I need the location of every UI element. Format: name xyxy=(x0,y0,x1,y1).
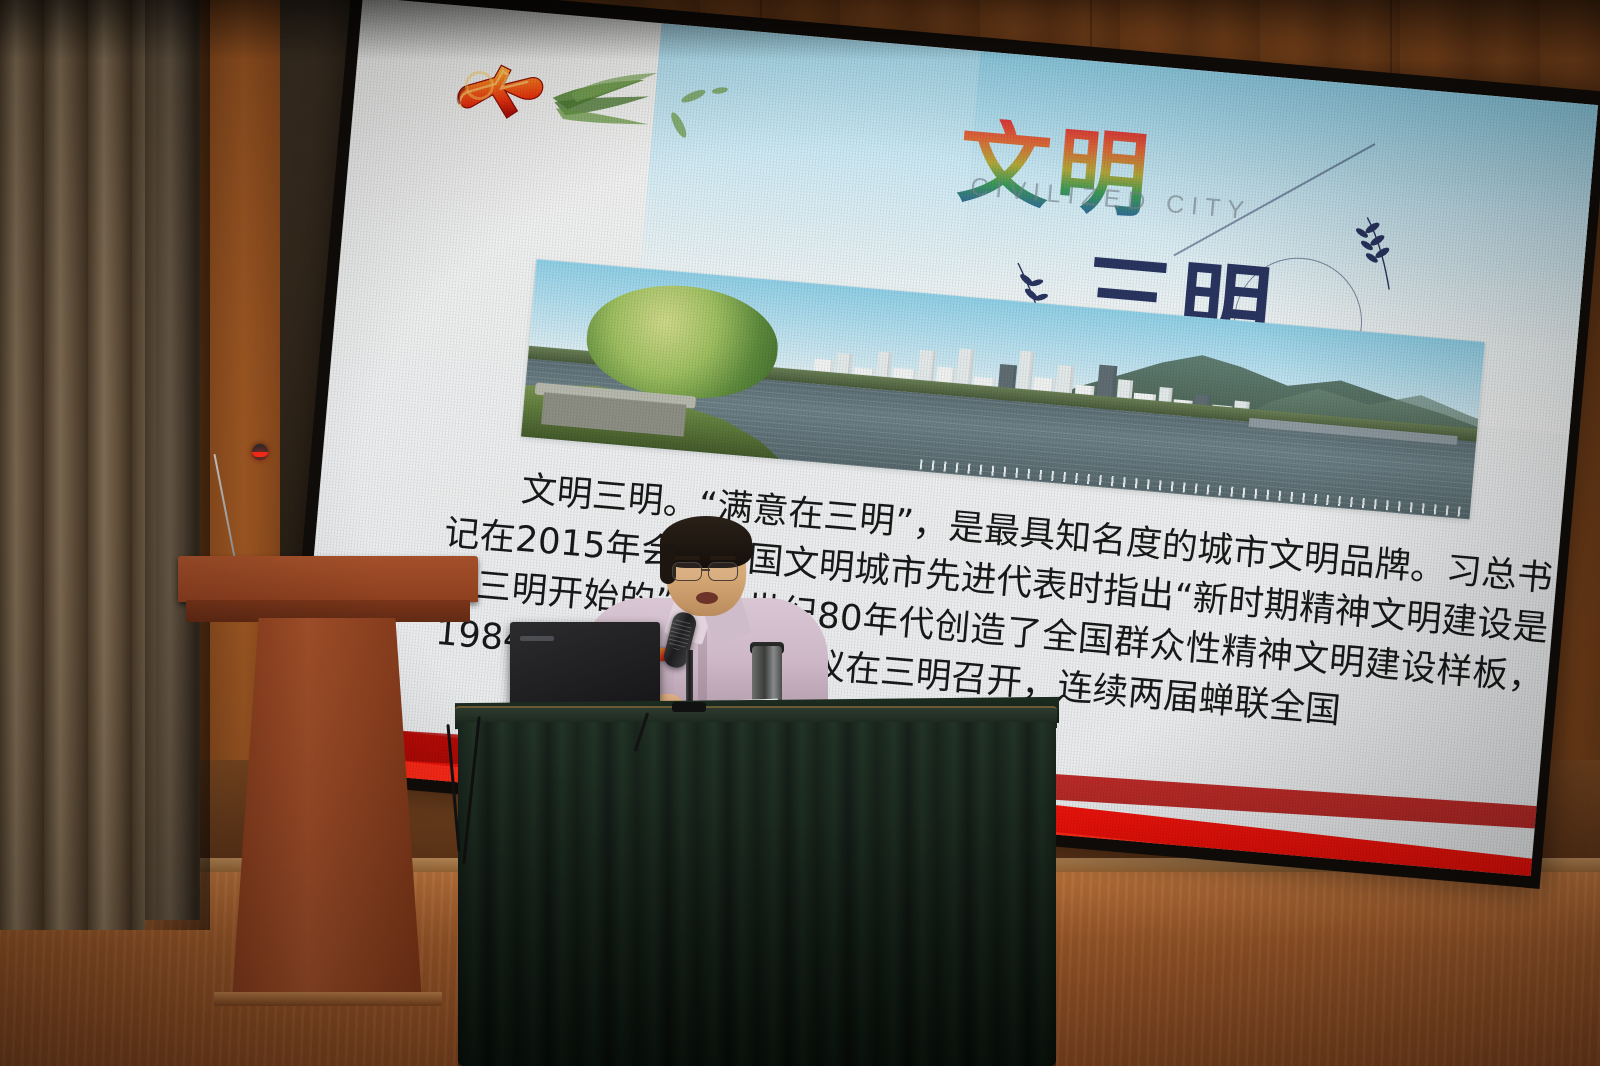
conference-hall-scene: 文明 CIVILIZED CITY xyxy=(0,0,1600,1066)
speaker-mouth xyxy=(696,592,718,604)
text-indent xyxy=(448,494,520,500)
table-skirt xyxy=(458,722,1056,1066)
lectern-body xyxy=(232,618,422,1000)
eyeglasses-lens-left xyxy=(672,562,702,581)
eyeglasses-lens-right xyxy=(708,562,738,581)
lectern-base xyxy=(214,992,442,1006)
microphone-status-led xyxy=(252,452,268,457)
bamboo-leaf-icon xyxy=(546,58,753,165)
microphone-base xyxy=(672,702,706,712)
eyeglasses-bridge xyxy=(702,569,710,571)
speaker-eyebrow-right xyxy=(710,556,736,560)
lectern-top[interactable] xyxy=(178,556,478,602)
speaker-eyebrow-left xyxy=(674,556,700,560)
laptop-brand-logo xyxy=(520,636,554,641)
cpc-party-emblem-icon xyxy=(444,49,559,138)
curtain-shadow xyxy=(120,0,210,930)
